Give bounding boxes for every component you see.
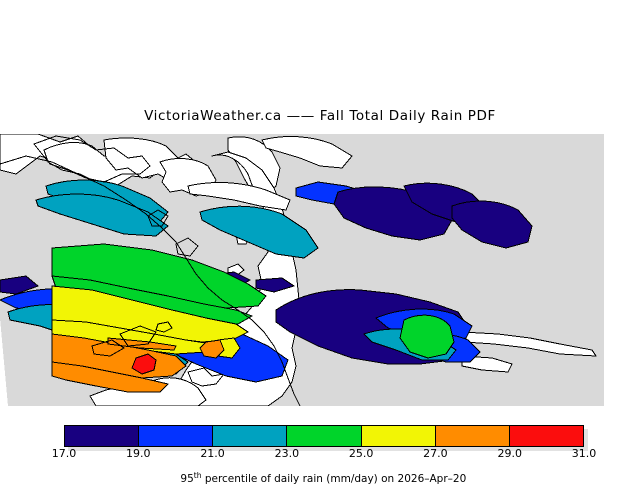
colorbar-segment-5[interactable]	[436, 426, 510, 446]
weather-map[interactable]	[0, 134, 604, 406]
caption-suffix: percentile of daily rain (mm/day) on 202…	[201, 473, 466, 485]
colorbar-segment-6[interactable]	[510, 426, 583, 446]
colorbar-segment-2[interactable]	[213, 426, 287, 446]
page-title: VictoriaWeather.ca —— Fall Total Daily R…	[0, 108, 640, 124]
colorbar-caption: 95th percentile of daily rain (mm/day) o…	[0, 459, 640, 485]
colorbar-segments[interactable]	[64, 425, 584, 447]
colorbar-segment-4[interactable]	[362, 426, 436, 446]
colorbar[interactable]	[64, 425, 584, 447]
colorbar-segment-0[interactable]	[65, 426, 139, 446]
colorbar-segment-3[interactable]	[287, 426, 361, 446]
map-panel[interactable]	[0, 134, 604, 406]
colorbar-segment-1[interactable]	[139, 426, 213, 446]
caption-prefix: 95	[180, 473, 193, 485]
